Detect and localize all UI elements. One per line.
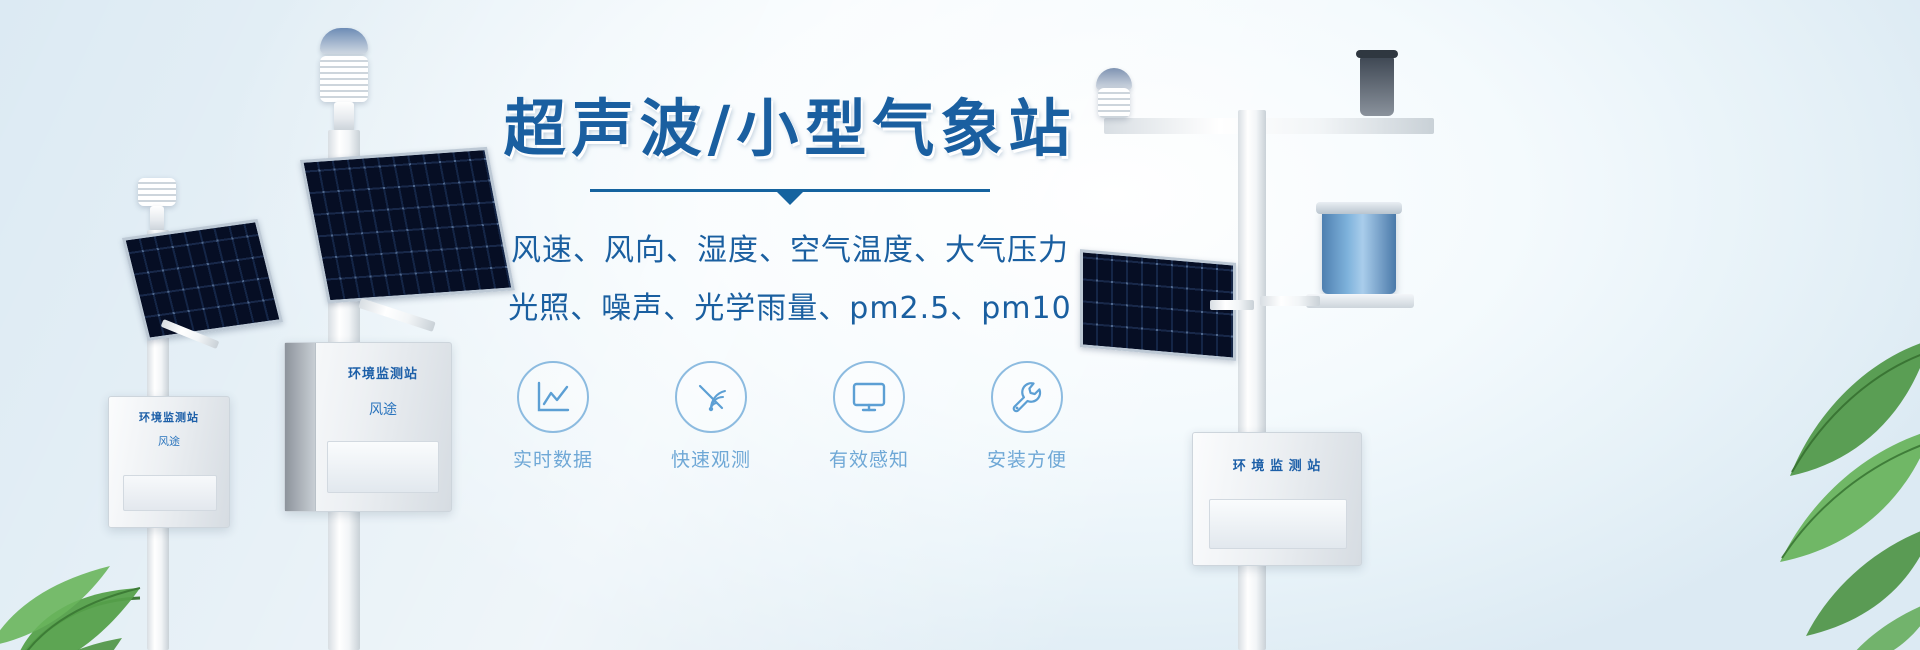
wrench-icon bbox=[1008, 378, 1046, 416]
sensor-neck-large bbox=[334, 102, 354, 132]
radiation-shield-sensor-large bbox=[320, 56, 368, 102]
solar-panel-small bbox=[122, 219, 283, 341]
feature-item-fast-observation[interactable]: 快速观测 bbox=[656, 361, 766, 472]
cabinet-left-large: 环境监测站 风途 bbox=[284, 342, 452, 512]
mast-pole-right bbox=[1238, 110, 1266, 650]
panel-bracket-large bbox=[358, 298, 435, 332]
wind-vane-sensor bbox=[1360, 54, 1394, 116]
ultrasonic-sensor-top bbox=[320, 28, 368, 54]
feature-circle-4 bbox=[991, 361, 1063, 433]
monitor-icon bbox=[850, 380, 888, 414]
ultrasonic-wind-sensor bbox=[1096, 68, 1132, 90]
cross-arm bbox=[1104, 118, 1434, 134]
feature-label-3: 有效感知 bbox=[814, 445, 924, 472]
rain-gauge-shelf bbox=[1306, 294, 1414, 308]
divider bbox=[590, 189, 990, 203]
leaf-decoration-right bbox=[1640, 300, 1920, 650]
feature-label-1: 实时数据 bbox=[498, 445, 608, 472]
line-chart-icon bbox=[535, 380, 571, 414]
cabinet-right: 环 境 监 测 站 bbox=[1192, 432, 1362, 566]
feature-circle-1 bbox=[517, 361, 589, 433]
feature-circle-2 bbox=[675, 361, 747, 433]
cabinet-label-small: 环境监测站 bbox=[109, 409, 229, 425]
weather-station-banner: 环境监测站 风途 环境监测站 风途 bbox=[0, 0, 1920, 650]
rain-gauge bbox=[1322, 208, 1396, 294]
feature-item-effective-sensing[interactable]: 有效感知 bbox=[814, 361, 924, 472]
feature-label-2: 快速观测 bbox=[656, 445, 766, 472]
cabinet-label-large: 环境监测站 bbox=[315, 363, 451, 382]
feature-circle-3 bbox=[833, 361, 905, 433]
feature-list: 实时数据 快速观测 bbox=[440, 361, 1140, 472]
feature-item-easy-installation[interactable]: 安装方便 bbox=[972, 361, 1082, 472]
cabinet-left-small: 环境监测站 风途 bbox=[108, 396, 230, 528]
cabinet-label-right: 环 境 监 测 站 bbox=[1193, 455, 1361, 474]
cabinet-brand-large: 风途 bbox=[315, 399, 451, 419]
sensor-mount-small bbox=[150, 206, 164, 232]
cabinet-brand-small: 风途 bbox=[109, 433, 229, 449]
radiation-shield-sensor-small bbox=[138, 178, 176, 206]
shelf-arm-right bbox=[1260, 296, 1320, 306]
subtitle-line-1: 风速、风向、湿度、空气温度、大气压力 bbox=[440, 225, 1140, 269]
panel-arm-right bbox=[1210, 300, 1254, 310]
radar-signal-icon bbox=[692, 378, 730, 416]
banner-content: 超声波/小型气象站 风速、风向、湿度、空气温度、大气压力 光照、噪声、光学雨量、… bbox=[440, 96, 1140, 472]
divider-triangle-icon bbox=[777, 192, 803, 205]
page-title: 超声波/小型气象站 bbox=[440, 96, 1140, 161]
feature-item-realtime-data[interactable]: 实时数据 bbox=[498, 361, 608, 472]
feature-label-4: 安装方便 bbox=[972, 445, 1082, 472]
subtitle-line-2: 光照、噪声、光学雨量、pm2.5、pm10 bbox=[440, 283, 1140, 327]
